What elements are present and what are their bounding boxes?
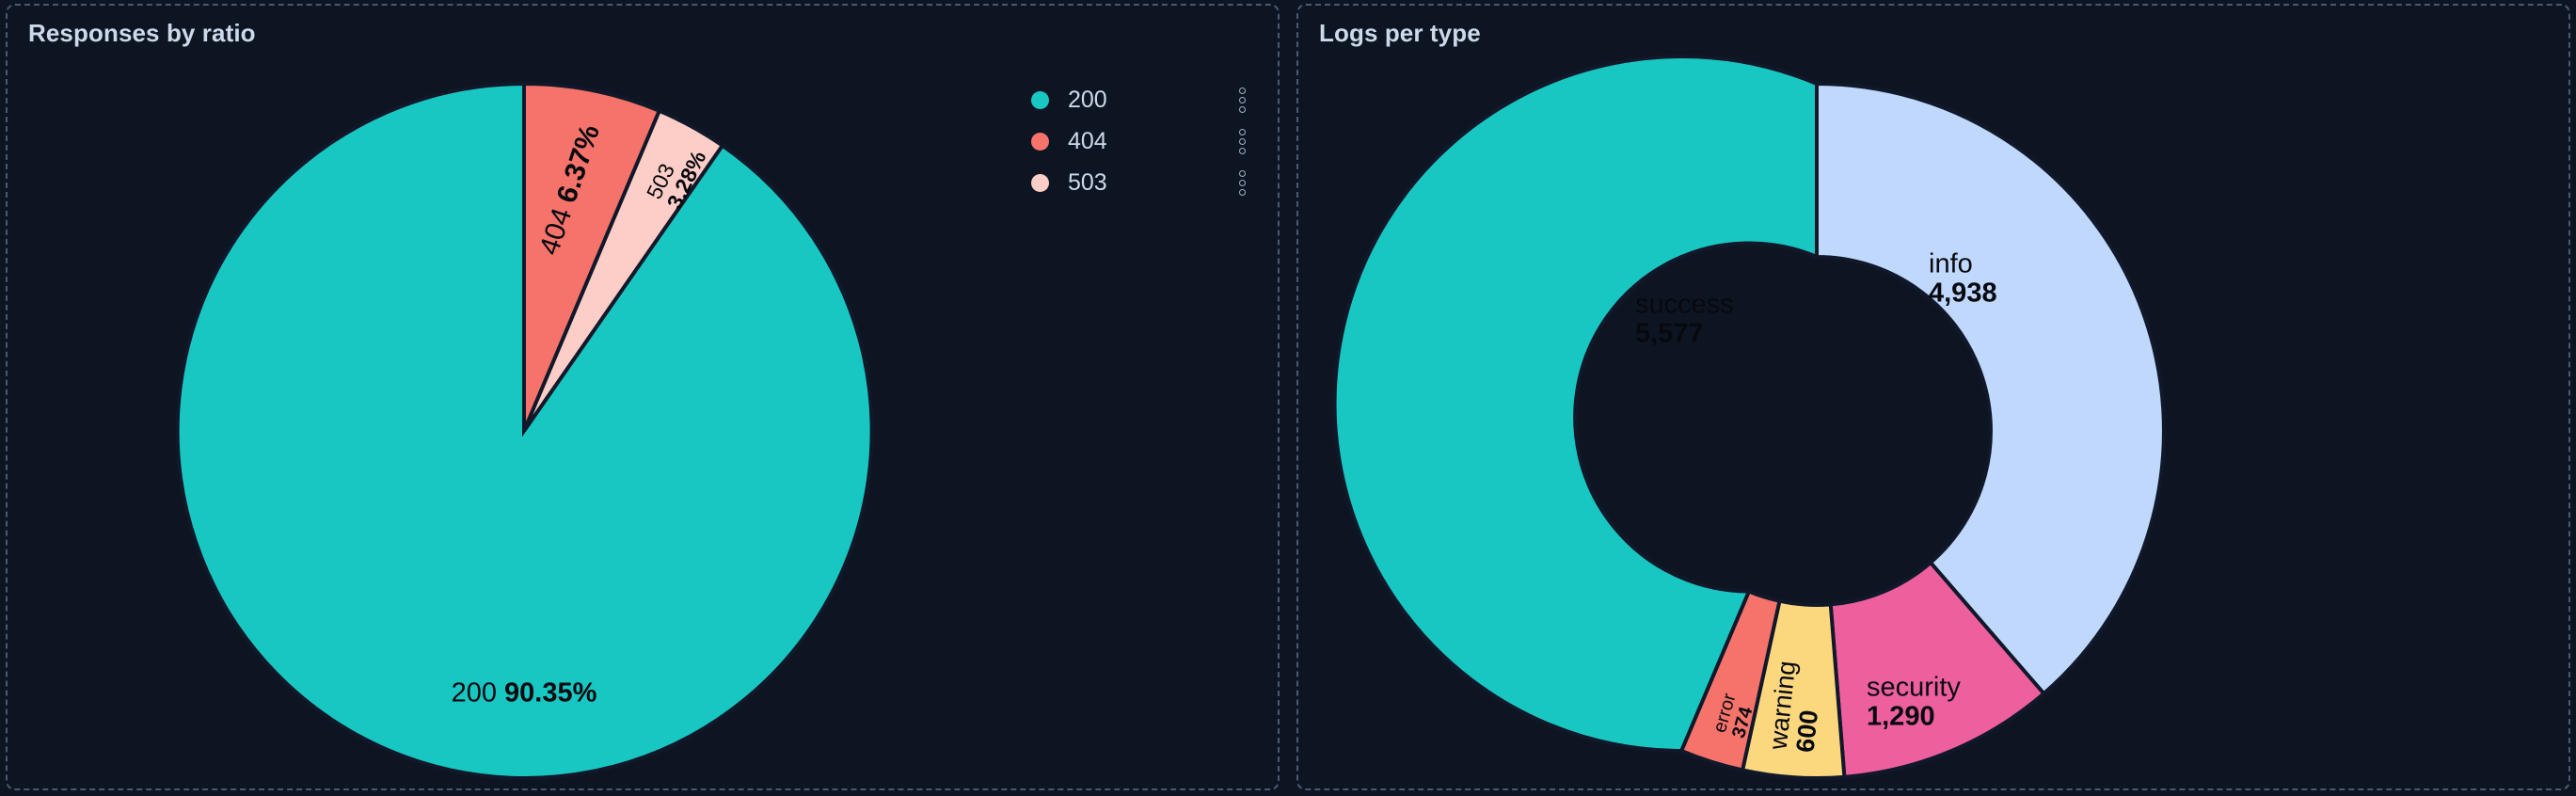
legend-swatch-404 bbox=[1031, 133, 1049, 151]
dashboard-root: Responses by ratio 200 90.35% 404 6.37% … bbox=[0, 0, 2576, 796]
legend-responses: 200 404 503 bbox=[1031, 79, 1304, 203]
donut-chart-logs: success 5,577 info 4,938 security 1,290 … bbox=[1298, 6, 2568, 788]
legend-swatch-200 bbox=[1031, 91, 1049, 109]
legend-swatch-503 bbox=[1031, 174, 1049, 192]
legend-label-200: 200 bbox=[1068, 87, 1107, 114]
kebab-menu-icon[interactable] bbox=[1236, 85, 1248, 115]
legend-label-404: 404 bbox=[1068, 128, 1107, 155]
legend-label-503: 503 bbox=[1068, 169, 1107, 197]
kebab-menu-icon[interactable] bbox=[1236, 167, 1248, 198]
legend-item-200[interactable]: 200 bbox=[1031, 79, 1304, 120]
donut-chart-svg bbox=[1298, 6, 2576, 792]
panel-logs-per-type: Logs per type success 5,577 bbox=[1296, 4, 2570, 790]
kebab-menu-icon[interactable] bbox=[1236, 126, 1248, 156]
legend-item-503[interactable]: 503 bbox=[1031, 162, 1304, 203]
panel-responses-by-ratio: Responses by ratio 200 90.35% 404 6.37% … bbox=[6, 4, 1280, 790]
legend-item-404[interactable]: 404 bbox=[1031, 120, 1304, 162]
